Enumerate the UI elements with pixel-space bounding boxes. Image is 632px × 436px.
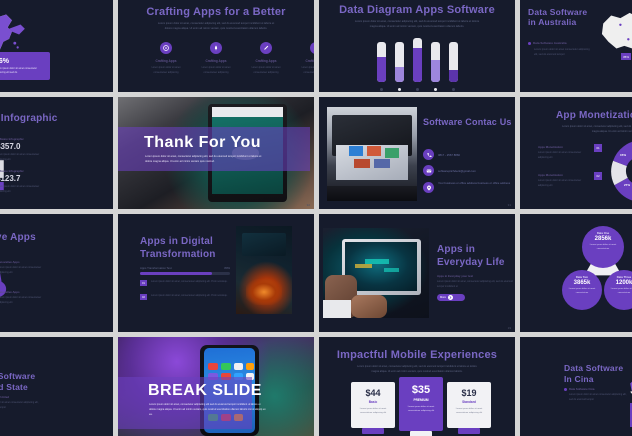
thank-you-text: Lorem ipsum dolor sit amet, consectetur … — [145, 155, 265, 165]
everyday-photo — [323, 228, 429, 318]
australia-bullet-label: Data Software Australia — [533, 41, 567, 45]
break-title: BREAK SLIDE — [148, 382, 262, 400]
everyday-text: Lorem ipsum dolor sit amet, consectetur … — [437, 280, 513, 290]
innovative-item-label: Innovative Apps — [0, 290, 46, 294]
pricing-label: Basic — [351, 400, 395, 404]
bullet-icon — [564, 388, 567, 391]
pricing-subtitle: Lorem ipsum dolor sit amet, consectetur … — [353, 365, 481, 375]
crafting-feature-label: Crafting Apps — [144, 59, 188, 63]
united-state-title: Data Software United State — [0, 371, 46, 393]
monetization-segment-label-2: 27% — [624, 183, 630, 187]
bar-chart — [319, 36, 515, 84]
crafting-feature-1[interactable]: Crafting Apps Lorem ipsum dolor sit amet… — [144, 42, 188, 76]
monetization-item-2: Apps Monetization Lorem ipsum dolor sit … — [538, 173, 590, 189]
circle-value: 1200k — [604, 280, 632, 286]
crafting-feature-2[interactable]: Crafting Apps Lorem ipsum dolor sit amet… — [194, 42, 238, 76]
pricing-card-standard[interactable]: $19 Standard Lorem ipsum dolor sit amet … — [447, 382, 491, 428]
pricing-price: $19 — [447, 388, 491, 398]
pricing-text: Lorem ipsum dolor sit amet consectetuer … — [399, 405, 443, 413]
bullet-text: Lorem ipsum dolor sit amet, consectetuer… — [151, 280, 228, 286]
slide-data-software-india[interactable]: 56% Lorem ipsum dolor sit amet consectet… — [0, 0, 113, 92]
infographic-item-label: Software Infographic — [0, 137, 46, 141]
contact-mail-text: softwarepitchdeck@gmail.com — [438, 169, 476, 173]
infographic-item-label: Software Infographic — [0, 169, 46, 173]
circle-value: 2856k — [582, 236, 624, 242]
user-icon — [310, 42, 314, 54]
transformation-bullet-2: 02 Lorem ipsum dolor sit amet, consectet… — [140, 294, 230, 300]
infographic-item-value: $123.7 — [0, 174, 46, 183]
pricing-card-basic[interactable]: $44 Basic Lorem ipsum dolor sit amet con… — [351, 382, 395, 428]
slide-united-state[interactable]: Data Software United State Data Software… — [0, 337, 113, 436]
pencil-icon — [260, 42, 272, 54]
infographic-item-value: $357.0 — [0, 142, 46, 151]
australia-bullet-text: Lorem ipsum dolor sit amet consectetur a… — [534, 47, 590, 57]
infographic-item-text: Lorem ipsum dolor sit amet consectetuer … — [0, 153, 46, 163]
crafting-feature-text: Lorem ipsum dolor sit amet consectetuer … — [194, 66, 238, 76]
pricing-purchase-button[interactable] — [410, 431, 432, 436]
pricing-purchase-button[interactable] — [362, 428, 384, 434]
pricing-text: Lorem ipsum dolor sit amet consectetuer … — [447, 407, 491, 415]
everyday-more-button[interactable]: More — [437, 294, 465, 301]
progress-fill — [140, 272, 212, 275]
circle-label: Data Two — [562, 275, 602, 279]
performance-circle-1[interactable]: Data One 2856k Lorem ipsum dolor sit ame… — [582, 226, 624, 268]
slide-china[interactable]: Data Software In Cina Data Software Cina… — [520, 337, 632, 436]
pricing-purchase-button[interactable] — [458, 428, 480, 434]
everyday-title: Apps in Everyday Life — [437, 244, 515, 269]
pricing-price: $35 — [399, 384, 443, 396]
infographic-item-text: Lorem ipsum dolor sit amet consectetuer … — [0, 185, 46, 195]
arrow-right-icon — [448, 295, 453, 300]
australia-title: Data Software in Australia — [528, 7, 590, 27]
bullet-badge: 01 — [140, 280, 147, 286]
bar-marker-2 — [398, 88, 401, 91]
innovative-item-text: Lorem ipsum dolor sit amet consectetuer … — [0, 296, 46, 306]
pricing-text: Lorem ipsum dolor sit amet consectetuer … — [351, 407, 395, 415]
everyday-subtitle: Apps in Everyday your text — [437, 274, 473, 278]
china-bullet-text: Lorem ipsum dolor sit amet consectetur a… — [569, 393, 627, 403]
slide-break[interactable]: BREAK SLIDE Lorem ipsum dolor sit amet, … — [118, 337, 314, 436]
innovative-item-1: Innovative Apps Lorem ipsum dolor sit am… — [0, 260, 46, 276]
pricing-price: $44 — [351, 388, 395, 398]
crafting-feature-text: Lorem ipsum dolor sit amet consectetuer … — [144, 66, 188, 76]
infographic-title: Software Infographic — [0, 113, 57, 125]
circle-label: Data One — [582, 231, 624, 235]
contact-photo — [327, 107, 417, 201]
slide-thumbnail-grid: 56% Lorem ipsum dolor sit amet consectet… — [0, 0, 632, 421]
page-number: 32 — [307, 203, 310, 207]
circle-text: Lorem ipsum dolor sit amet consectetuer — [582, 244, 624, 251]
contact-row-location[interactable]: Your business or office address business… — [423, 181, 515, 193]
infographic-item-2: Software Infographic $123.7 Lorem ipsum … — [0, 169, 46, 195]
bullet-badge: 02 — [140, 294, 147, 300]
monetization-badge-1: 01 — [594, 144, 602, 152]
slide-crafting-apps[interactable]: Crafting Apps for a Better Lorem ipsum d… — [118, 0, 314, 92]
break-text: Lorem ipsum dolor sit amet, consectetur … — [149, 403, 267, 417]
monetization-item-1: Apps Monetization Lorem ipsum dolor sit … — [538, 145, 590, 161]
monetization-title: App Monetization — [556, 110, 632, 122]
crafting-feature-text: Lorem ipsum dolor sit amet consectetuer … — [244, 66, 288, 76]
pricing-card-premium[interactable]: $35 PREMIUM Lorem ipsum dolor sit amet c… — [399, 377, 443, 431]
slide-data-diagram[interactable]: Data Diagram Apps Software Lorem ipsum d… — [319, 0, 515, 92]
innovative-item-label: Innovative Apps — [0, 260, 46, 264]
india-stat-value: 56% — [0, 58, 9, 65]
monetization-badge-2: 02 — [594, 172, 602, 180]
everyday-button-label: More — [440, 296, 446, 299]
contact-location-text: Your business or office address business… — [438, 181, 510, 186]
monetization-item-label: Apps Monetization — [538, 145, 590, 149]
progress-value: 80% — [224, 266, 230, 270]
united-state-bullet-label: Data Software United — [0, 395, 9, 399]
innovative-title: Innovative Apps — [0, 232, 36, 244]
pricing-label: Standard — [447, 400, 491, 404]
bar-marker-4 — [434, 88, 437, 91]
china-bullet-label: Data Software Cina — [569, 387, 595, 391]
rocket-icon — [210, 42, 222, 54]
monetization-donut-chart: 15% 27% 33% — [608, 139, 632, 203]
transformation-photo — [236, 226, 292, 314]
circle-text: Lorem ipsum dolor sit amet consectetuer — [562, 288, 602, 295]
innovative-item-text: Lorem ipsum dolor sit amet consectetuer … — [0, 266, 46, 276]
page-number: 19 — [508, 326, 511, 330]
india-stat-card: 56% Lorem ipsum dolor sit amet consectet… — [0, 52, 50, 80]
mail-icon — [423, 165, 434, 176]
bar-3 — [413, 38, 422, 82]
slide-everyday-life[interactable]: Apps in Everyday Life Apps in Everyday y… — [319, 214, 515, 332]
crafting-feature-4[interactable]: Crafting Apps Lorem ipsum dolor sit amet… — [294, 42, 314, 76]
bullet-icon — [528, 42, 531, 45]
monetization-item-text: Lorem ipsum dolor sit amet consectetuer … — [538, 179, 590, 189]
crafting-title: Crafting Apps for a Better — [118, 6, 314, 19]
progress-label: Apps Transformation Text — [140, 266, 172, 270]
bar-4 — [431, 42, 440, 82]
bar-marker-3 — [416, 88, 419, 91]
monetization-item-text: Lorem ipsum dolor sit amet consectetuer … — [538, 151, 590, 161]
contact-title: Software Contac Us — [423, 117, 513, 128]
innovative-item-2: Innovative Apps Lorem ipsum dolor sit am… — [0, 290, 46, 306]
target-icon — [160, 42, 172, 54]
pricing-title: Impactful Mobile Experiences — [319, 349, 515, 362]
thank-you-title: Thank For You — [144, 134, 261, 152]
bar-2 — [395, 42, 404, 82]
slide-app-monetization[interactable]: App Monetization Lorem ipsum dolor sit a… — [520, 97, 632, 209]
page-number: 31 — [508, 203, 511, 207]
bar-marker-1 — [380, 88, 383, 91]
crafting-feature-label: Crafting Apps — [244, 59, 288, 63]
phone-icon — [423, 149, 434, 160]
crafting-feature-label: Crafting Apps — [194, 59, 238, 63]
location-icon — [423, 182, 434, 193]
crafting-subtitle: Lorem ipsum dolor sit amet, consectetur … — [154, 22, 278, 32]
china-title: Data Software In Cina — [564, 363, 630, 385]
transformation-progress: Apps Transformation Text 80% — [140, 266, 230, 275]
data-diagram-subtitle: Lorem ipsum dolor sit amet, consectetur … — [351, 20, 483, 30]
slide-thank-you[interactable]: Thank For You Lorem ipsum dolor sit amet… — [118, 97, 314, 209]
pricing-label: PREMIUM — [399, 398, 443, 402]
united-state-bullet-text: Lorem ipsum dolor sit amet consectetur a… — [0, 401, 43, 411]
monetization-subtitle: Lorem ipsum dolor sit amet, consectetur … — [560, 125, 632, 135]
crafting-feature-label: Crafting Apps — [294, 59, 314, 63]
bar-5 — [449, 42, 458, 82]
bullet-text: Lorem ipsum dolor sit amet, consectetuer… — [151, 294, 228, 300]
contact-phone-text: 0817 - 2567 8866 — [438, 153, 460, 157]
slide-innovative-apps[interactable]: Innovative Apps — [0, 214, 113, 332]
india-stat-caption: Lorem ipsum dolor sit amet consectetur a… — [0, 67, 46, 76]
contact-row-phone[interactable]: 0817 - 2567 8866 — [423, 149, 515, 160]
slide-software-contact[interactable]: Software Contac Us 0817 - 2567 8866 soft… — [319, 97, 515, 209]
crafting-feature-text: Lorem ipsum dolor sit amet consectetuer … — [294, 66, 314, 76]
performance-circle-2[interactable]: Data Two 3865k Lorem ipsum dolor sit ame… — [562, 270, 602, 310]
progress-track — [140, 272, 230, 275]
slide-pricing[interactable]: Impactful Mobile Experiences Lorem ipsum… — [319, 337, 515, 436]
slide-software-infographic[interactable]: Software Infographic Software Infographi… — [0, 97, 113, 209]
bar-1 — [377, 42, 386, 82]
circle-label: Data Three — [604, 275, 632, 279]
transformation-title: Apps in Digital Transformation — [140, 236, 226, 261]
infographic-item-1: Software Infographic $357.0 Lorem ipsum … — [0, 137, 46, 163]
australia-badge: 35% — [621, 53, 631, 60]
slide-digital-transformation[interactable]: Apps in Digital Transformation Apps Tran… — [118, 214, 314, 332]
contact-row-mail[interactable]: softwarepitchdeck@gmail.com — [423, 165, 515, 176]
circle-value: 3865k — [562, 280, 602, 286]
slide-data-software-australia[interactable]: Data Software in Australia Data Software… — [520, 0, 632, 92]
data-diagram-title: Data Diagram Apps Software — [319, 4, 515, 17]
monetization-item-label: Apps Monetization — [538, 173, 590, 177]
transformation-bullet-1: 01 Lorem ipsum dolor sit amet, consectet… — [140, 280, 230, 286]
monetization-segment-label-1: 15% — [620, 153, 626, 157]
circle-text: Lorem ipsum dolor sit amet consectetuer — [604, 288, 632, 295]
crafting-feature-3[interactable]: Crafting Apps Lorem ipsum dolor sit amet… — [244, 42, 288, 76]
bar-marker-5 — [452, 88, 455, 91]
slide-apps-performance[interactable]: Data One 2856k Lorem ipsum dolor sit ame… — [520, 214, 632, 332]
